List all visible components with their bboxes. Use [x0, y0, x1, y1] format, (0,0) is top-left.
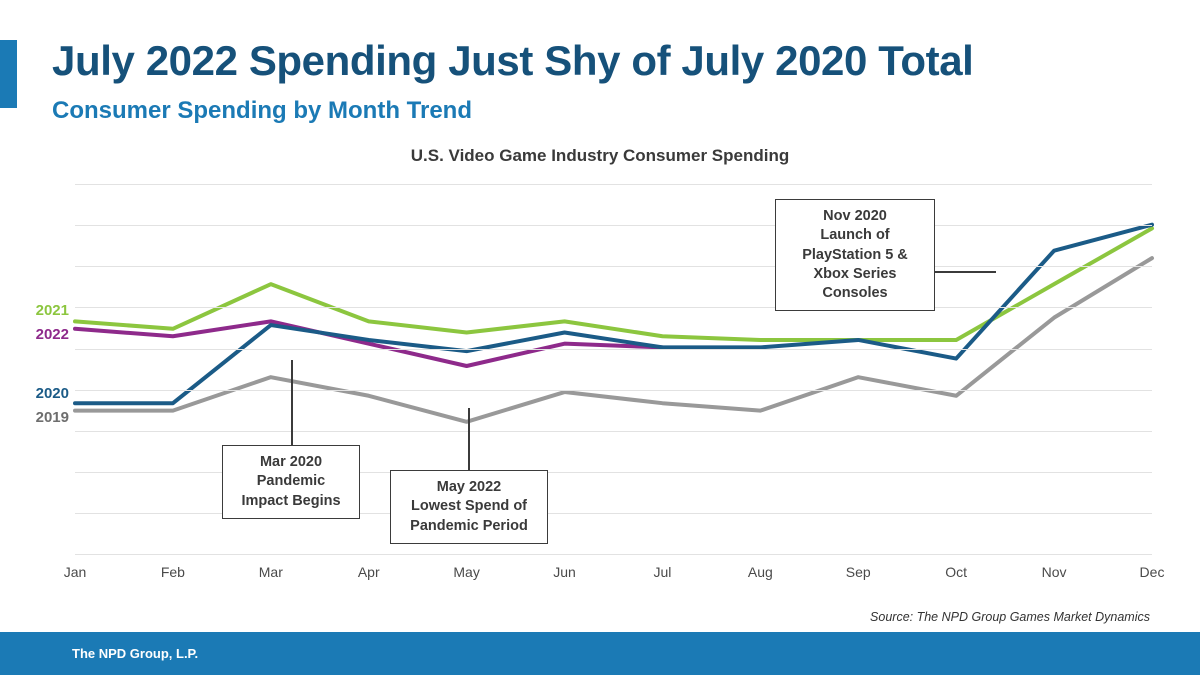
series-label-2022: 2022 [36, 326, 69, 343]
callout-line: Launch of [786, 226, 924, 245]
x-tick-label: Mar [259, 564, 283, 580]
callout-line: Pandemic Period [401, 517, 537, 536]
gridline [75, 184, 1152, 185]
x-tick-label: Nov [1042, 564, 1067, 580]
x-tick-label: Jan [64, 564, 87, 580]
x-tick-label: May [453, 564, 479, 580]
x-tick-label: Jul [654, 564, 672, 580]
callout-line: Pandemic [233, 472, 349, 491]
callout-line: Mar 2020 [233, 453, 349, 472]
series-label-2021: 2021 [36, 302, 69, 319]
gridline [75, 390, 1152, 391]
x-tick-label: Dec [1140, 564, 1165, 580]
x-tick-label: Sep [846, 564, 871, 580]
callout-may-2022: May 2022Lowest Spend ofPandemic Period [390, 470, 548, 544]
chart-title: U.S. Video Game Industry Consumer Spendi… [0, 146, 1200, 166]
page-subtitle: Consumer Spending by Month Trend [52, 99, 472, 123]
callout-line: Consoles [786, 284, 924, 303]
series-label-2020: 2020 [36, 385, 69, 402]
gridline [75, 307, 1152, 308]
accent-bar [0, 40, 17, 108]
slide-root: July 2022 Spending Just Shy of July 2020… [0, 0, 1200, 675]
footer-brand: The NPD Group, L.P. [72, 646, 198, 661]
callout-line: Nov 2020 [786, 207, 924, 226]
x-tick-label: Oct [945, 564, 967, 580]
callout-line: Impact Begins [233, 492, 349, 511]
leader-may-2022 [468, 408, 470, 471]
series-line-2020 [75, 225, 1152, 404]
x-axis: JanFebMarAprMayJunJulAugSepOctNovDec [75, 552, 1152, 592]
callout-line: Lowest Spend of [401, 497, 537, 516]
gridline [75, 266, 1152, 267]
gridline [75, 225, 1152, 226]
gridline [75, 431, 1152, 432]
x-tick-label: Feb [161, 564, 185, 580]
x-tick-label: Aug [748, 564, 773, 580]
callout-line: Xbox Series [786, 265, 924, 284]
x-tick-label: Apr [358, 564, 380, 580]
callout-nov-2020: Nov 2020Launch ofPlayStation 5 &Xbox Ser… [775, 199, 935, 311]
callout-line: PlayStation 5 & [786, 246, 924, 265]
callout-line: May 2022 [401, 478, 537, 497]
source-note: Source: The NPD Group Games Market Dynam… [870, 610, 1150, 624]
callout-mar-2020: Mar 2020PandemicImpact Begins [222, 445, 360, 519]
leader-nov-2020 [934, 271, 996, 273]
gridline [75, 349, 1152, 350]
page-title: July 2022 Spending Just Shy of July 2020… [52, 40, 973, 82]
leader-mar-2020 [291, 360, 293, 446]
series-label-2019: 2019 [36, 409, 69, 426]
x-tick-label: Jun [553, 564, 576, 580]
